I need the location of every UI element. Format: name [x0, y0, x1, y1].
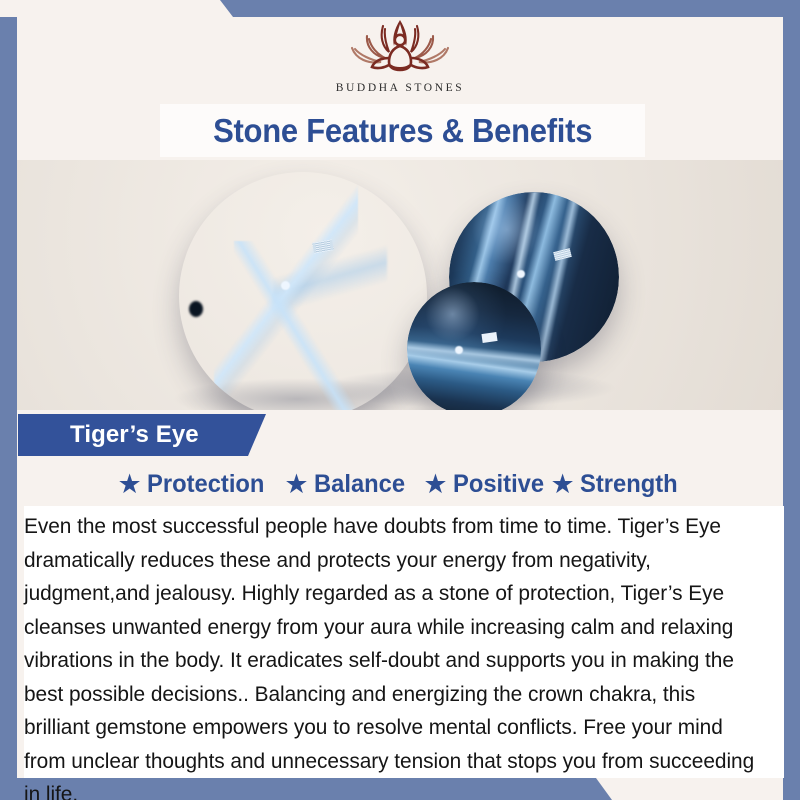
star-icon: ★: [117, 471, 141, 498]
page-title: Stone Features & Benefits: [213, 112, 592, 150]
lotus-meditation-icon: [336, 14, 464, 80]
benefit-item-0: ★ Protection: [117, 470, 270, 499]
brand-name: BUDDHA STONES: [336, 82, 464, 94]
benefit-label: Balance: [314, 470, 405, 499]
stone-name: Tiger’s Eye: [70, 421, 199, 449]
star-icon: ★: [423, 471, 447, 498]
gemstone-sphere-large: [179, 172, 427, 410]
benefit-item-2: ★ Positive: [423, 470, 548, 499]
brand-logo: BUDDHA STONES: [0, 14, 800, 94]
benefit-item-1: ★ Balance: [284, 470, 409, 499]
star-icon: ★: [284, 471, 308, 498]
benefits-row: ★ Protection ★ Balance ★ Positive ★ Stre…: [17, 462, 783, 506]
benefit-label: Positive: [453, 470, 544, 499]
star-icon: ★: [551, 471, 575, 498]
description-text: Even the most successful people have dou…: [24, 510, 759, 800]
benefit-label: Strength: [580, 470, 678, 499]
description-panel: Even the most successful people have dou…: [24, 506, 784, 778]
gemstone-sphere-small: [407, 282, 541, 410]
hero-image: [17, 160, 783, 410]
benefit-item-3: ★ Strength: [551, 470, 683, 499]
benefit-label: Protection: [147, 470, 264, 499]
stone-name-banner: Tiger’s Eye: [18, 414, 266, 456]
frame-right-border: [783, 0, 800, 800]
title-banner: Stone Features & Benefits: [160, 104, 645, 157]
frame-left-border: [0, 0, 17, 800]
infographic-page: BUDDHA STONES Stone Features & Benefits: [0, 0, 800, 800]
